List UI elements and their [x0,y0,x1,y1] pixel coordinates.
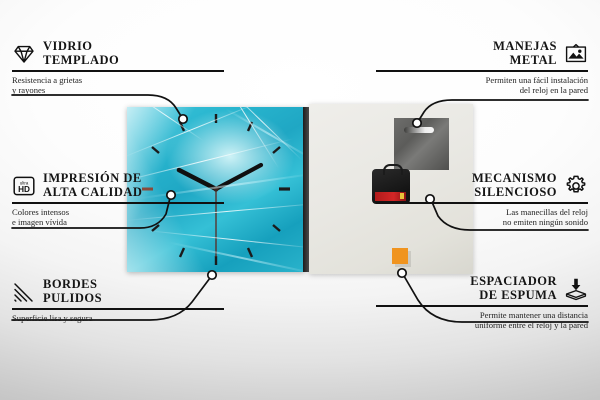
divider [12,308,224,310]
foam-spacer-icon [564,277,588,301]
infographic-canvas: VIDRIO TEMPLADO Resistencia a grietas y … [0,0,600,400]
feature-mecanismo-silencioso: MECANISMO SILENCIOSO Las manecillas del … [376,172,588,228]
polished-edge-icon [12,280,36,304]
feature-desc-line1: Permiten una fácil instalación [376,75,588,86]
gear-icon [564,174,588,198]
feature-title-line1: VIDRIO [43,40,119,54]
divider [12,70,224,72]
feature-title-line1: MECANISMO [472,172,557,186]
feature-manejas-metal: MANEJAS METAL Permiten una fácil instala… [376,40,588,96]
feature-title-line1: ESPACIADOR [470,275,557,289]
svg-text:HD: HD [18,185,30,194]
feature-desc-line2: e imagen vívida [12,217,224,228]
feature-desc-line1: Las manecillas del reloj [376,207,588,218]
feature-title-line2: METAL [493,54,557,68]
divider [376,70,588,72]
feature-desc-line2: uniforme entre el reloj y la pared [376,320,588,331]
feature-title-line2: PULIDOS [43,292,102,306]
feature-title-line2: DE ESPUMA [470,289,557,303]
divider [376,305,588,307]
feature-desc-line1: Superficie lisa y segura [12,313,224,324]
divider [12,202,224,204]
divider [376,202,588,204]
picture-frame-icon [564,42,588,66]
feature-espaciador-espuma: ESPACIADOR DE ESPUMA Permite mantener un… [376,275,588,331]
feature-title-line2: TEMPLADO [43,54,119,68]
feature-title-line2: ALTA CALIDAD [43,186,142,200]
feature-impresion-alta-calidad: ultra HD IMPRESIÓN DE ALTA CALIDAD Color… [12,172,224,228]
feature-desc-line2: no emiten ningún sonido [376,217,588,228]
feature-desc-line1: Resistencia a grietas [12,75,224,86]
feature-vidrio-templado: VIDRIO TEMPLADO Resistencia a grietas y … [12,40,224,96]
feature-desc-line1: Permite mantener una distancia [376,310,588,321]
feature-title-line1: MANEJAS [493,40,557,54]
feature-title-line1: IMPRESIÓN DE [43,172,142,186]
endpoint-vidrio [179,115,187,123]
feature-title-line1: BORDES [43,278,102,292]
feature-title-line2: SILENCIOSO [472,186,557,200]
endpoint-manejas [413,119,421,127]
diamond-icon [12,42,36,66]
feature-desc-line1: Colores intensos [12,207,224,218]
feature-bordes-pulidos: BORDES PULIDOS Superficie lisa y segura [12,278,224,323]
feature-desc-line2: y rayones [12,85,224,96]
feature-desc-line2: del reloj en la pared [376,85,588,96]
ultra-hd-icon: ultra HD [12,174,36,198]
